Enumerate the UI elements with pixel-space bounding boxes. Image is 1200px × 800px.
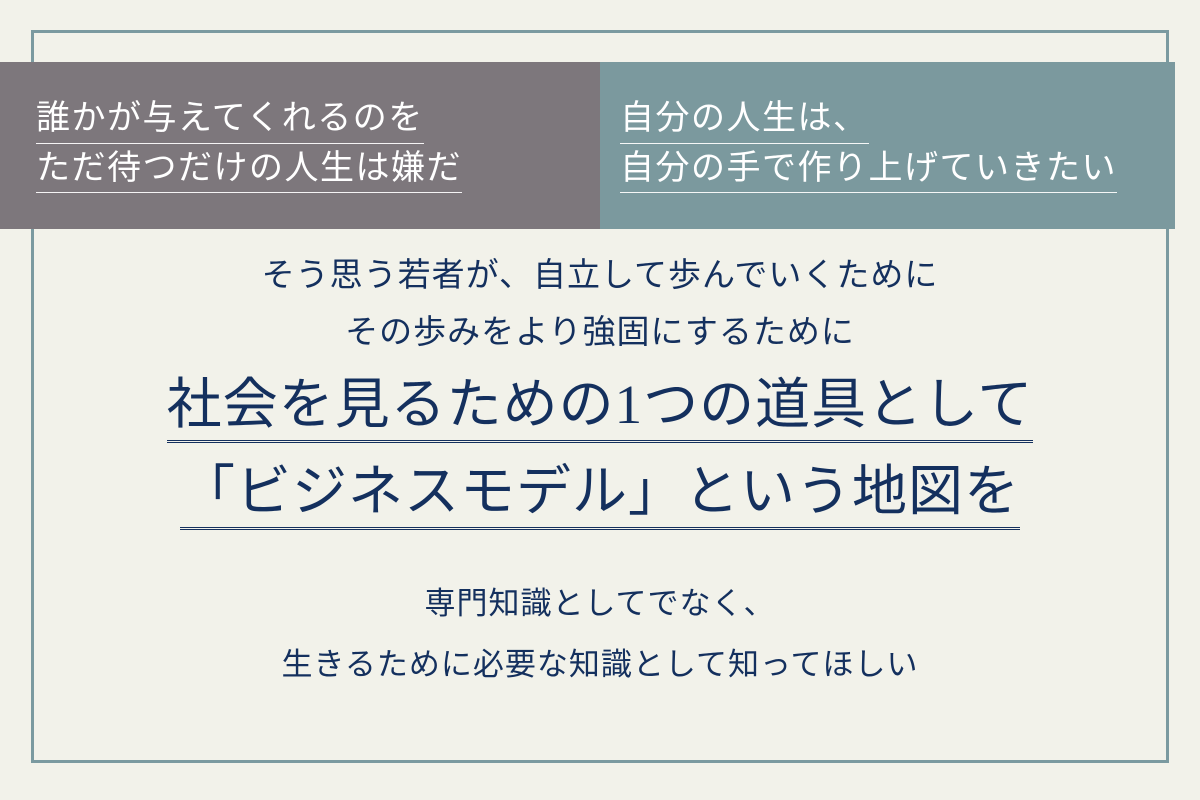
message-highlight-line-2: 「ビジネスモデル」という地図を xyxy=(180,463,1020,530)
message-intro: そう思う若者が、自立して歩んでいくために その歩みをより強固にするために xyxy=(0,248,1200,362)
message-outro-line-1: 専門知識としてでなく、 xyxy=(0,574,1200,634)
message-intro-line-2: その歩みをより強固にするために xyxy=(0,305,1200,362)
quote-banner-row: 誰かが与えてくれるのを ただ待つだけの人生は嫌だ 自分の人生は、 自分の手で作り… xyxy=(0,62,1200,229)
quote-banner-right: 自分の人生は、 自分の手で作り上げていきたい xyxy=(600,62,1175,229)
message-outro: 専門知識としてでなく、 生きるために必要な知識として知ってほしい xyxy=(0,574,1200,695)
message-highlight-row-2: 「ビジネスモデル」という地図を xyxy=(0,463,1200,530)
message-highlight: 社会を見るための1つの道具として 「ビジネスモデル」という地図を xyxy=(0,376,1200,531)
quote-banner-left: 誰かが与えてくれるのを ただ待つだけの人生は嫌だ xyxy=(0,62,600,229)
message-highlight-row-1: 社会を見るための1つの道具として xyxy=(0,376,1200,443)
quote-left-line-1: 誰かが与えてくれるのを xyxy=(36,96,424,144)
quote-right-line-1: 自分の人生は、 xyxy=(620,96,869,144)
message-outro-line-2: 生きるために必要な知識として知ってほしい xyxy=(0,635,1200,695)
message-highlight-line-1: 社会を見るための1つの道具として xyxy=(167,376,1034,443)
main-message-block: そう思う若者が、自立して歩んでいくために その歩みをより強固にするために 社会を… xyxy=(0,248,1200,695)
quote-left-line-2: ただ待つだけの人生は嫌だ xyxy=(36,146,462,194)
quote-right-line-2: 自分の手で作り上げていきたい xyxy=(620,146,1117,194)
message-intro-line-1: そう思う若者が、自立して歩んでいくために xyxy=(0,248,1200,305)
